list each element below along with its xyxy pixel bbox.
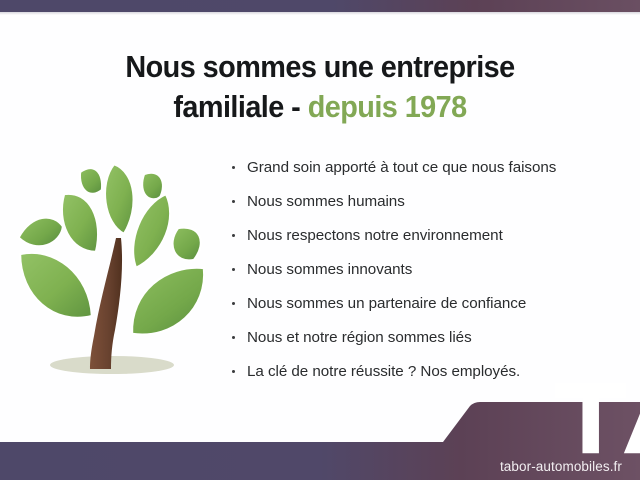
tree-leaf [172,227,201,260]
top-accent-band [0,0,640,12]
list-item: Grand soin apporté à tout ce que nous fa… [228,152,628,186]
page-title-line-2-prefix: familiale - [173,89,307,124]
tree-leaf [15,213,66,251]
tree-leaf [80,168,102,194]
page-title-line-1: Nous sommes une entreprise [125,49,514,84]
page-title-line-2: familiale - depuis 1978 [22,87,617,127]
list-item: Nous sommes innovants [228,254,628,288]
tree-ground-shadow [50,356,174,374]
tree-leaf [132,268,204,335]
value-proposition-list: Grand soin apporté à tout ce que nous fa… [228,152,628,390]
tree-leaf [20,253,92,318]
tree-leaf [133,194,170,268]
tree-trunk [90,238,122,369]
page-title: Nous sommes une entreprise familiale - d… [22,47,617,127]
list-item: Nous sommes un partenaire de confiance [228,288,628,322]
list-item: Nous respectons notre environnement [228,220,628,254]
top-accent-band-shadow [0,12,640,15]
tree-leaf [142,173,163,200]
tree-leaf [62,194,98,252]
footer-bar: tabor-automobiles.fr [0,400,640,480]
brand-website-url: tabor-automobiles.fr [414,459,624,474]
list-item: Nous et notre région sommes liés [228,322,628,356]
tabor-logo-wordmark [414,378,640,458]
slide-canvas: Nous sommes une entreprise familiale - d… [0,0,640,480]
list-item: Nous sommes humains [228,186,628,220]
family-tree-illustration [8,150,220,390]
page-title-accent: depuis 1978 [308,89,467,124]
tree-leaf [105,164,134,234]
brand-lockup: tabor-automobiles.fr [414,378,624,474]
